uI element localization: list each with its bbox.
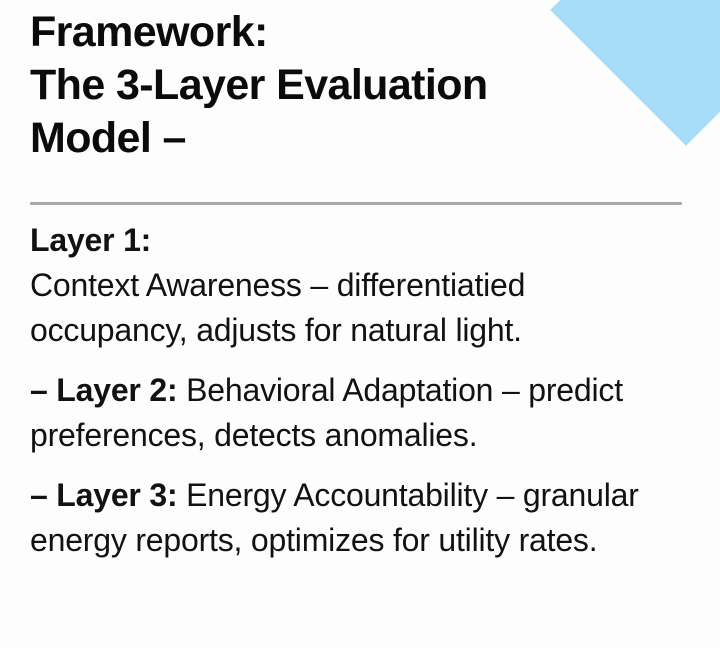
layer-item-1: Layer 1:Context Awareness – differentiat…	[30, 218, 690, 353]
layer-3-label: – Layer 3:	[30, 477, 177, 513]
page-title-line-3: Model –	[30, 112, 630, 165]
page-title-line-2: The 3-Layer Evaluation	[30, 59, 630, 112]
title-divider	[30, 202, 682, 205]
page-title-line-1: Framework:	[30, 6, 630, 59]
layer-1-label: Layer 1:	[30, 218, 690, 263]
page-title: Framework: The 3-Layer Evaluation Model …	[30, 6, 630, 165]
layer-2-label: – Layer 2:	[30, 372, 177, 408]
framework-card: Framework: The 3-Layer Evaluation Model …	[0, 0, 720, 648]
layers-list: Layer 1:Context Awareness – differentiat…	[30, 218, 690, 563]
layer-item-2: – Layer 2: Behavioral Adaptation – predi…	[30, 368, 690, 458]
layer-1-text: Context Awareness – differentiatied occu…	[30, 267, 525, 348]
layer-item-3: – Layer 3: Energy Accountability – granu…	[30, 473, 690, 563]
